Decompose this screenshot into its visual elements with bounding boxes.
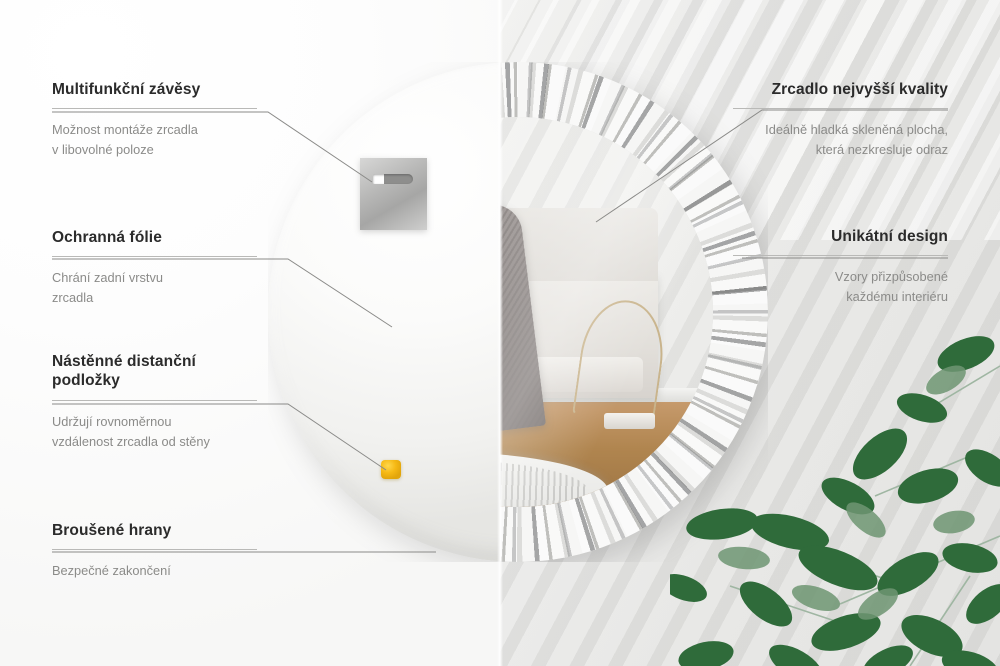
reflected-lamp-base <box>604 413 655 429</box>
callout-title: Multifunkční závěsy <box>52 80 257 99</box>
callout-title: Nástěnné distančnípodložky <box>52 352 257 391</box>
callout-rule <box>52 400 257 401</box>
half-split-divider <box>497 0 503 666</box>
callout-title: Broušené hrany <box>52 521 257 540</box>
callout-body: Bezpečné zakončení <box>52 561 257 581</box>
callout-rule <box>52 256 257 257</box>
callout-body: Chrání zadní vrstvuzrcadla <box>52 268 257 308</box>
callout-rule <box>733 255 948 256</box>
mirror-product <box>268 62 768 562</box>
infographic-canvas: Multifunkční závěsy Možnost montáže zrca… <box>0 0 1000 666</box>
hanger-slot <box>373 174 413 184</box>
callout-brousene-hrany: Broušené hrany Bezpečné zakončení <box>52 521 257 581</box>
callout-rule <box>733 108 948 109</box>
callout-title: Zrcadlo nejvyšší kvality <box>733 80 948 99</box>
callout-title: Ochranná fólie <box>52 228 257 247</box>
callout-nastenne-podlozky: Nástěnné distančnípodložky Udržují rovno… <box>52 352 257 451</box>
callout-body: Vzory přizpůsobenékaždému interiéru <box>733 267 948 307</box>
callout-body: Ideálně hladká skleněná plocha,která nez… <box>733 120 948 160</box>
callout-title: Unikátní design <box>733 227 948 246</box>
callout-unikatni-design: Unikátní design Vzory přizpůsobenékaždém… <box>733 227 948 307</box>
callout-multifunkcni-zavesy: Multifunkční závěsy Možnost montáže zrca… <box>52 80 257 160</box>
callout-rule <box>52 108 257 109</box>
callout-rule <box>52 549 257 550</box>
hanger-plate <box>360 158 427 230</box>
callout-ochranna-folie: Ochranná fólie Chrání zadní vrstvuzrcadl… <box>52 228 257 308</box>
callout-body: Udržují rovnoměrnouvzdálenost zrcadla od… <box>52 412 257 452</box>
callout-body: Možnost montáže zrcadlav libovolné poloz… <box>52 120 257 160</box>
spacer-pad <box>381 460 401 479</box>
callout-zrcadlo-kvalita: Zrcadlo nejvyšší kvality Ideálně hladká … <box>733 80 948 160</box>
